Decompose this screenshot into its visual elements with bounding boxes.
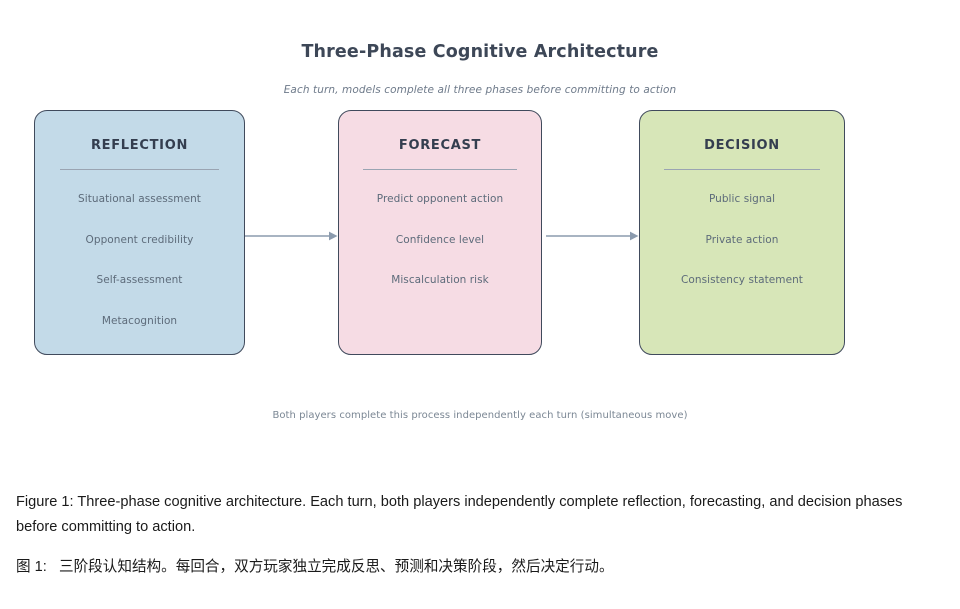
arrow-right-icon xyxy=(546,226,639,246)
arrow-right-icon xyxy=(245,226,338,246)
phase-heading-forecast: FORECAST xyxy=(339,138,541,153)
phase-item: Self-assessment xyxy=(35,270,244,311)
phase-item-list-decision: Public signal Private action Consistency… xyxy=(640,189,844,311)
phase-item: Opponent credibility xyxy=(35,230,244,271)
phase-heading-reflection: REFLECTION xyxy=(35,138,244,153)
phase-item: Metacognition xyxy=(35,311,244,352)
phase-box-decision[interactable]: DECISION Public signal Private action Co… xyxy=(639,110,845,355)
phase-item: Miscalculation risk xyxy=(339,270,541,311)
phase-box-forecast[interactable]: FORECAST Predict opponent action Confide… xyxy=(338,110,542,355)
figure-title: Three-Phase Cognitive Architecture xyxy=(0,42,960,62)
caption-chinese: 图 1: 三阶段认知结构。每回合，双方玩家独立完成反思、预测和决策阶段，然后决定… xyxy=(16,556,944,579)
phase-item: Confidence level xyxy=(339,230,541,271)
phase-item: Situational assessment xyxy=(35,189,244,230)
figure-footnote: Both players complete this process indep… xyxy=(0,410,960,421)
phase-item: Private action xyxy=(640,230,844,271)
figure-canvas: Three-Phase Cognitive Architecture Each … xyxy=(0,0,960,470)
phase-divider xyxy=(363,169,517,170)
phase-item: Public signal xyxy=(640,189,844,230)
phase-divider xyxy=(664,169,819,170)
phase-item-list-forecast: Predict opponent action Confidence level… xyxy=(339,189,541,311)
phase-divider xyxy=(60,169,219,170)
figure-subtitle: Each turn, models complete all three pha… xyxy=(0,84,960,96)
phase-item: Predict opponent action xyxy=(339,189,541,230)
phase-box-reflection[interactable]: REFLECTION Situational assessment Oppone… xyxy=(34,110,245,355)
phase-item: Consistency statement xyxy=(640,270,844,311)
phase-item-list-reflection: Situational assessment Opponent credibil… xyxy=(35,189,244,351)
phase-heading-decision: DECISION xyxy=(640,138,844,153)
caption-block: Figure 1: Three-phase cognitive architec… xyxy=(16,490,944,579)
caption-english: Figure 1: Three-phase cognitive architec… xyxy=(16,490,944,540)
